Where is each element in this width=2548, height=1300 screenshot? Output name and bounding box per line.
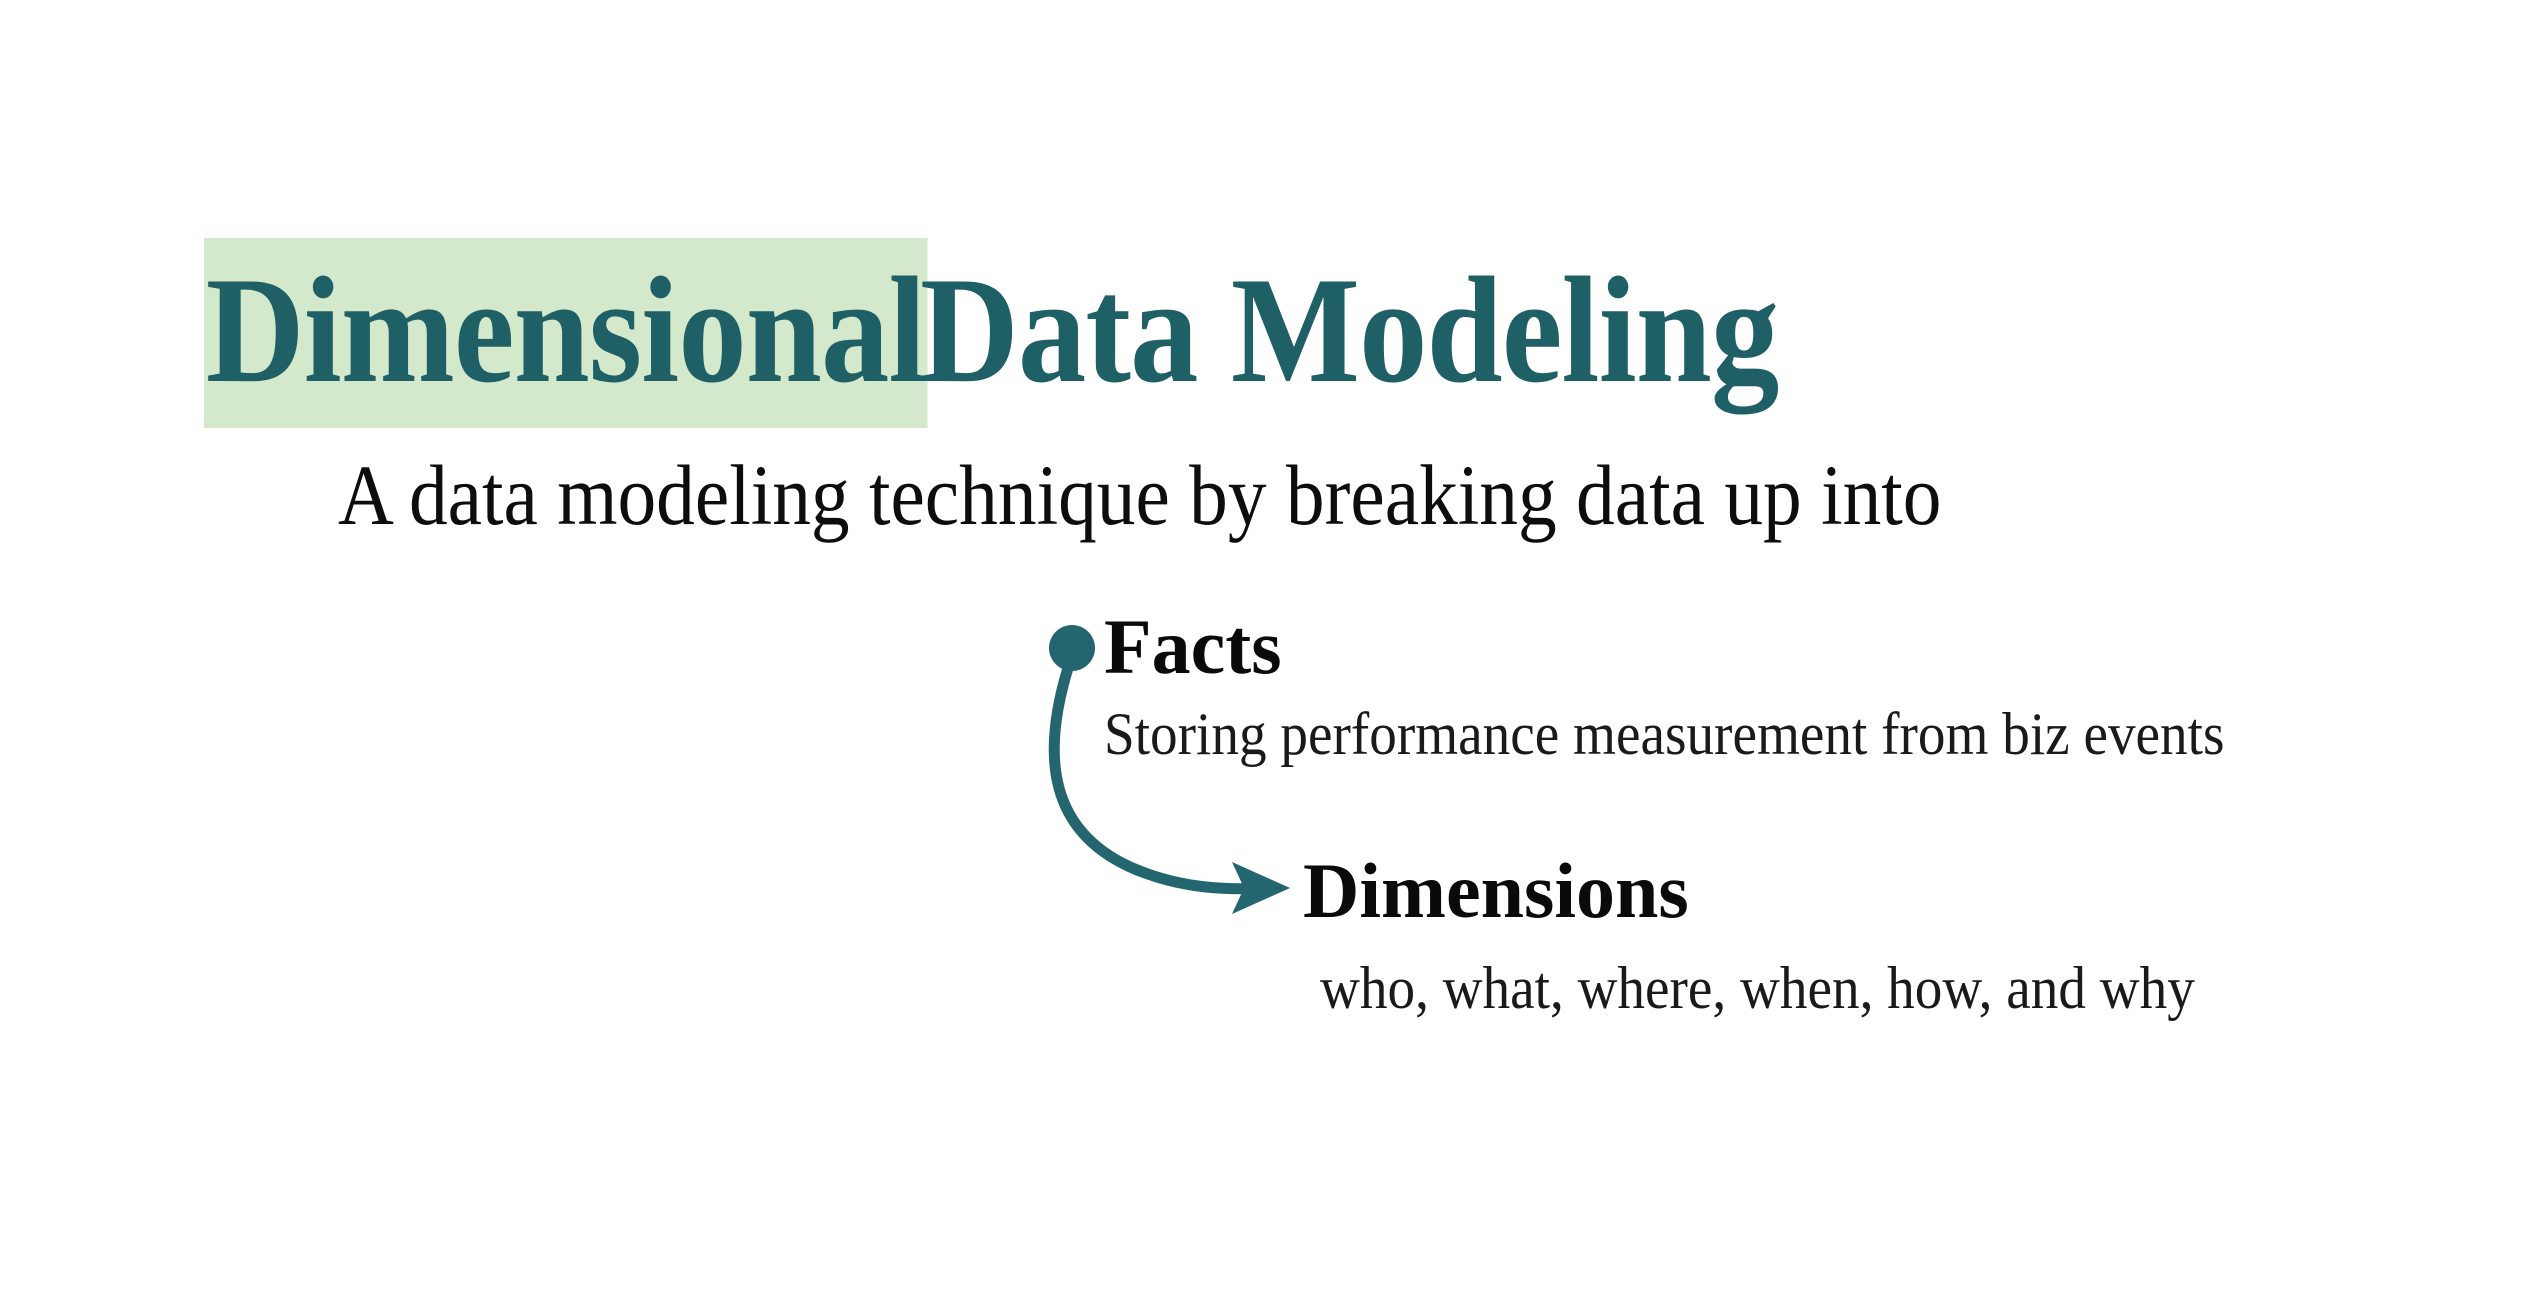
concept-description-dimensions: who, what, where, when, how, and why [1320, 958, 2195, 1018]
title-rest: Data Modeling [920, 254, 1778, 406]
title-highlighted-word: Dimensional [204, 238, 927, 428]
concept-description-facts: Storing performance measurement from biz… [1104, 704, 2224, 764]
page-subtitle: A data modeling technique by breaking da… [338, 452, 1941, 538]
concept-heading-dimensions: Dimensions [1303, 852, 1689, 930]
page-title: Dimensional Data Modeling [204, 238, 1874, 428]
arrowhead-marker-icon [1232, 862, 1290, 914]
slide-canvas: Dimensional Data Modeling A data modelin… [0, 0, 2548, 1300]
concept-heading-facts: Facts [1104, 608, 1282, 686]
dot-marker-icon [1049, 625, 1095, 671]
